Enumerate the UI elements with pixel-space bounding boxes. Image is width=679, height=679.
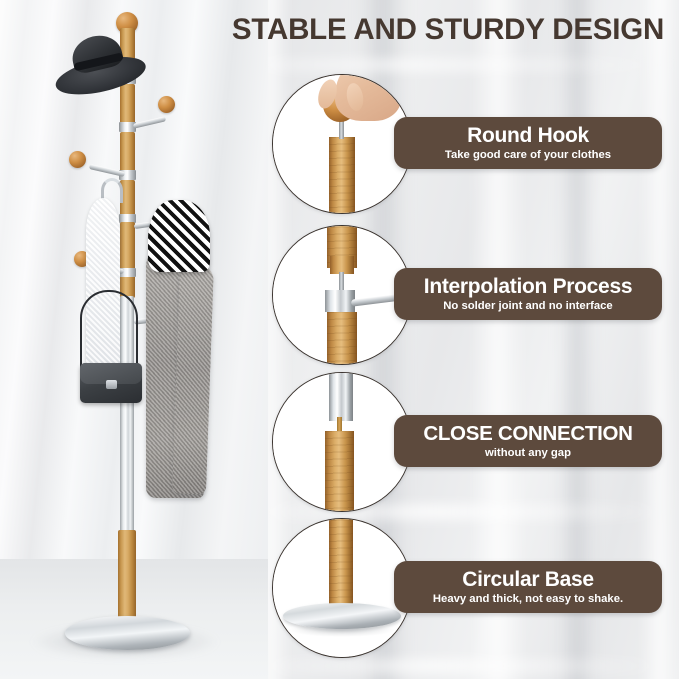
feature-title: Circular Base <box>462 568 594 591</box>
macro-screw-pin <box>339 121 344 139</box>
rack-hook-knob <box>69 151 86 168</box>
feature-title: Round Hook <box>467 124 589 147</box>
feature-close-connection: CLOSE CONNECTION without any gap <box>268 372 679 520</box>
feature-circular-base: Circular Base Heavy and thick, not easy … <box>268 518 679 666</box>
feature-image-circular-base <box>272 518 412 658</box>
feature-image-round-hook <box>272 74 412 214</box>
feature-title: Interpolation Process <box>424 275 632 298</box>
bag-clasp <box>106 380 117 389</box>
feature-interpolation-process: Interpolation Process No solder joint an… <box>268 225 679 373</box>
macro-screw-pin <box>339 272 344 292</box>
feature-image-interpolation-process <box>272 225 412 365</box>
rack-circular-base <box>65 616 190 650</box>
feature-banner-close-connection: CLOSE CONNECTION without any gap <box>394 415 662 467</box>
feature-subtitle: Take good care of your clothes <box>445 148 611 162</box>
feature-round-hook: Round Hook Take good care of your clothe… <box>268 74 679 222</box>
macro-round-hook <box>273 75 411 213</box>
feature-subtitle: without any gap <box>485 446 571 460</box>
feature-banner-circular-base: Circular Base Heavy and thick, not easy … <box>394 561 662 613</box>
infographic-canvas: STABLE AND STURDY DESIGN Round Hook Take… <box>0 0 679 679</box>
product-photo <box>0 0 268 679</box>
macro-chrome-tube <box>329 372 353 421</box>
macro-base-shadow <box>289 623 395 637</box>
feature-subtitle: Heavy and thick, not easy to shake. <box>433 592 623 606</box>
feature-subtitle: No solder joint and no interface <box>443 299 612 313</box>
macro-wood-grain <box>325 431 354 512</box>
checkered-hood <box>148 200 210 272</box>
macro-interpolation-process <box>273 226 411 364</box>
macro-circular-base <box>273 519 411 657</box>
rack-wood-section <box>120 84 135 124</box>
feature-banner-round-hook: Round Hook Take good care of your clothe… <box>394 117 662 169</box>
feature-image-close-connection <box>272 372 412 512</box>
rack-wood-section <box>120 132 135 172</box>
macro-hand <box>335 74 401 121</box>
black-crossbody-bag <box>80 363 142 403</box>
macro-close-connection <box>273 373 411 511</box>
feature-title: CLOSE CONNECTION <box>423 422 632 445</box>
macro-wood-grain <box>327 312 357 365</box>
macro-wood-grain <box>329 137 355 214</box>
rack-wood-section <box>120 222 135 262</box>
feature-banner-interpolation-process: Interpolation Process No solder joint an… <box>394 268 662 320</box>
page-title: STABLE AND STURDY DESIGN <box>226 13 670 47</box>
macro-wood-grain <box>329 518 353 607</box>
rack-hook-knob <box>158 96 175 113</box>
